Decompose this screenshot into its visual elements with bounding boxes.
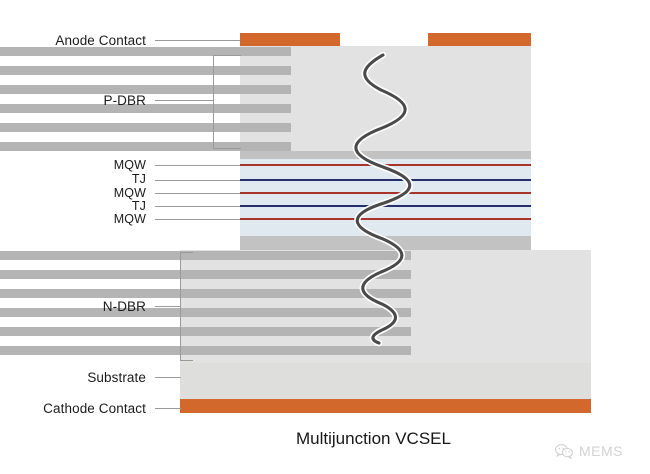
leader-p-dbr [155,100,214,101]
leader-anode-contact [155,40,240,41]
leader-tj-1 [155,180,240,181]
leader-mqw-3 [155,219,240,220]
watermark: MEMS [555,443,623,459]
vcsel-diagram: Anode Contact P-DBR MQW TJ MQW TJ MQW N-… [0,0,650,474]
leader-tj-2 [155,206,240,207]
figure-title: Multijunction VCSEL [296,429,451,449]
leader-mqw-2 [155,193,240,194]
leader-mqw-1 [155,165,240,166]
label-mqw-3: MQW [60,212,146,226]
label-cathode-contact: Cathode Contact [26,401,146,416]
label-tj-2: TJ [60,199,146,213]
bracket-p-dbr [213,55,241,149]
label-anode-contact: Anode Contact [46,33,146,48]
label-tj-1: TJ [60,172,146,186]
label-p-dbr: P-DBR [60,93,146,108]
label-mqw-1: MQW [60,158,146,172]
watermark-label: MEMS [579,443,623,459]
leader-cathode-contact [155,408,181,409]
label-substrate: Substrate [50,370,146,385]
wechat-icon [555,444,573,459]
leader-substrate [155,377,181,378]
bracket-n-dbr [180,252,193,361]
leader-n-dbr [155,306,181,307]
label-n-dbr: N-DBR [55,299,146,314]
label-mqw-2: MQW [60,186,146,200]
